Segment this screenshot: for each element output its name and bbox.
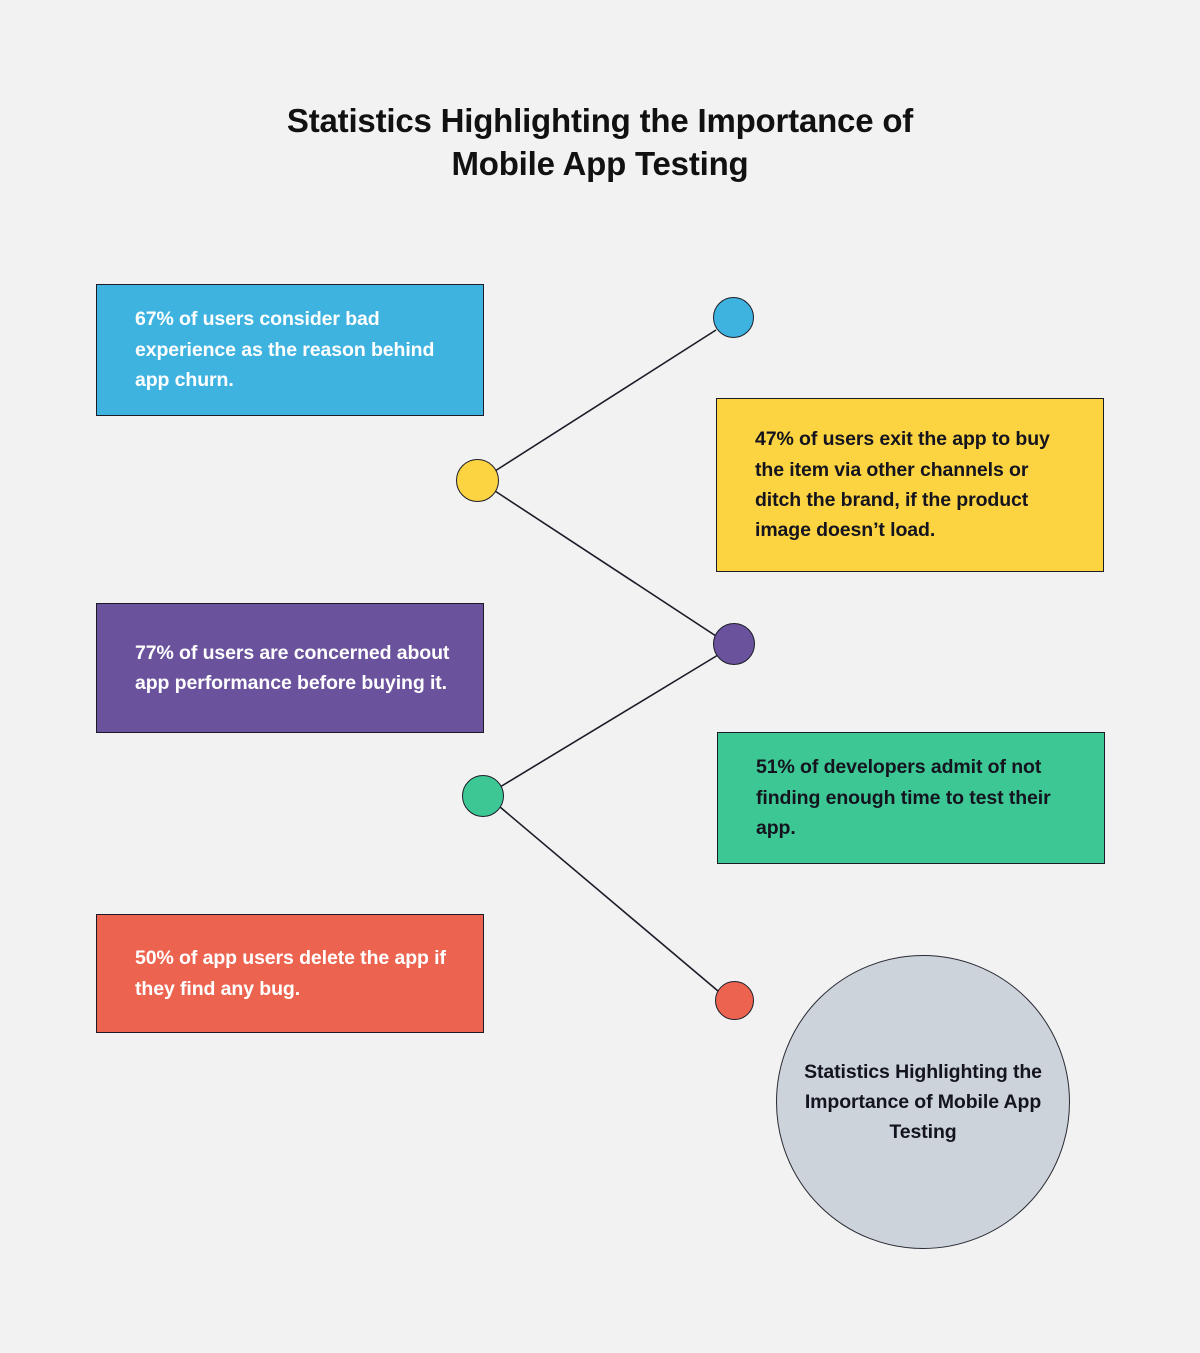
connector-green-to-red [500, 807, 718, 991]
center-circle-label: Statistics Highlighting the Importance o… [801, 1057, 1046, 1148]
stat-text-performance: 77% of users are concerned about app per… [135, 638, 457, 699]
stat-box-churn[interactable]: 67% of users consider bad experience as … [96, 284, 484, 416]
page-title-line-1: Statistics Highlighting the Importance o… [200, 100, 1000, 143]
node-dot-delete[interactable] [715, 981, 754, 1020]
stat-text-delete: 50% of app users delete the app if they … [135, 943, 457, 1004]
stat-box-delete[interactable]: 50% of app users delete the app if they … [96, 914, 484, 1033]
node-dot-performance[interactable] [713, 623, 755, 665]
infographic-canvas: Statistics Highlighting the Importance o… [0, 0, 1200, 1353]
node-dot-churn[interactable] [713, 297, 754, 338]
connector-yellow-to-purple [495, 491, 716, 636]
page-title: Statistics Highlighting the Importance o… [200, 100, 1000, 186]
stat-text-exit: 47% of users exit the app to buy the ite… [755, 424, 1077, 546]
stat-box-developers[interactable]: 51% of developers admit of not finding e… [717, 732, 1105, 864]
node-dot-exit[interactable] [456, 459, 499, 502]
stat-box-exit[interactable]: 47% of users exit the app to buy the ite… [716, 398, 1104, 572]
connector-yellow-to-blue [495, 330, 716, 471]
stat-text-churn: 67% of users consider bad experience as … [135, 304, 457, 395]
center-circle[interactable]: Statistics Highlighting the Importance o… [776, 955, 1070, 1249]
node-dot-developers[interactable] [462, 775, 504, 817]
stat-text-developers: 51% of developers admit of not finding e… [756, 752, 1078, 843]
page-title-line-2: Mobile App Testing [200, 143, 1000, 186]
stat-box-performance[interactable]: 77% of users are concerned about app per… [96, 603, 484, 733]
connector-green-to-purple [500, 655, 718, 787]
